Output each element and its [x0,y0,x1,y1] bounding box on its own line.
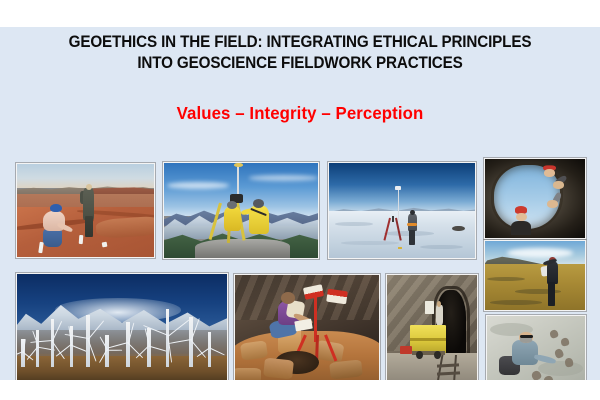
photo-tundra-fieldwork [484,240,586,311]
photo-red-rock-geologists [16,163,155,258]
desert-floor [17,356,227,380]
mast-antenna [234,163,242,167]
wind-turbine [208,332,211,367]
tripod-head [392,216,394,222]
photo-wind-farm [16,273,228,380]
wind-turbine [70,326,73,367]
rail-tie [437,363,459,367]
scientist-legs [409,230,416,245]
scientist-head [410,210,415,216]
scientist-belt [407,223,417,226]
measuring-tape [78,235,82,245]
photo-excavation-survey [234,274,380,380]
wind-turbine [51,319,54,367]
cloud [167,182,229,189]
sunglasses [520,335,533,338]
cloud [249,175,318,181]
worker-body [511,221,531,235]
worker-face [547,200,558,208]
photo-mine-adit [386,274,478,380]
ore-cart-wheel [416,351,423,360]
snow-texture [335,222,373,226]
snow-texture [341,241,399,245]
ore-cart-band [410,338,446,342]
standing-geologist-body [83,188,95,220]
researcher-legs [548,282,555,305]
cloud [507,248,573,258]
researcher-body [547,262,558,284]
equipment-box [398,247,402,250]
ore-cart-wheel [434,351,441,360]
miner-body [436,305,443,324]
information-sign [425,301,434,314]
stone-block [263,358,294,380]
wind-turbine [189,317,192,367]
blue-hard-hat [50,204,62,212]
wind-turbine [105,335,108,367]
wind-turbine [147,328,150,367]
geologist-shirt [512,340,537,364]
surveyor-head [253,199,264,208]
sky-layer [329,163,475,211]
stone-block [234,368,261,380]
surveyor-yellow-jacket [224,207,241,232]
surveyor-head [227,201,237,209]
photo-alpine-surveyors [163,162,319,259]
wind-turbine [86,315,89,367]
photo-glacier-survey [328,162,476,259]
photo-pit-looking-up [484,158,586,239]
summit-rock [195,239,290,259]
photo-fossil-trackway [486,315,586,380]
worker-face [544,169,555,177]
standing-geologist-legs [85,216,93,236]
sky-layer [164,163,318,216]
gps-antenna [395,186,401,190]
wind-turbine [126,322,129,367]
grass-texture [487,277,525,281]
laser-scanner [326,289,348,305]
slide-body: GEOETHICS IN THE FIELD: INTEGRATING ETHI… [0,27,600,380]
gravel-ground [387,353,477,380]
survey-pole [398,188,399,220]
wind-turbine [21,339,24,367]
red-equipment [400,346,413,354]
worker-face [553,181,564,189]
wind-turbine [36,330,39,367]
wind-turbine [166,309,169,367]
photo-collage [0,27,600,380]
slide-canvas: GEOETHICS IN THE FIELD: INTEGRATING ETHI… [0,0,600,400]
